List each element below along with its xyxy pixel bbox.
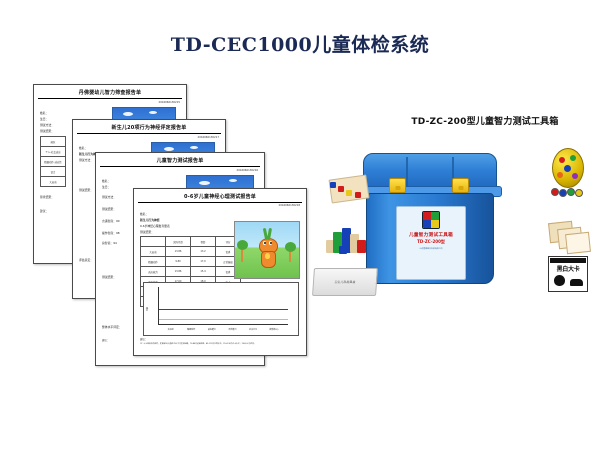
- toolbox-latch-right[interactable]: [452, 178, 469, 193]
- chart-plot-area: 大运动 精细动作 适应能力 语言能力 社交行为 发育商DQ: [158, 287, 288, 325]
- report-4-title: 0-6岁儿童神经心理测试报告单: [134, 193, 306, 200]
- table-row: 适应能力 13.86 15.4 优秀: [141, 267, 241, 277]
- table-cell: 语言: [41, 167, 66, 177]
- x-tick-label: 大运动: [168, 328, 174, 331]
- x-tick-label: 精细动作: [187, 328, 195, 331]
- report-1-title: 丹佛婴幼儿智力筛查报告单: [34, 89, 186, 96]
- y-axis-label: 月龄: [146, 307, 149, 311]
- cell: 13.86: [166, 247, 191, 257]
- divider: [77, 133, 221, 134]
- report-1-table: 能区 个人-社会适应 精细动作-适应性 语言 大运动: [40, 136, 66, 187]
- picture-card-front[interactable]: [565, 232, 591, 254]
- table-header: 智龄: [191, 237, 216, 247]
- table-row: 精细动作 9.80 17.0 正常偏高: [141, 257, 241, 267]
- row-label: 适应能力: [141, 267, 166, 277]
- wooden-block[interactable]: [357, 240, 366, 253]
- x-tick-label: 语言能力: [229, 328, 237, 331]
- cell: 13.2: [191, 247, 216, 257]
- reference-line-primary: [159, 309, 288, 310]
- manual-box[interactable]: 卫生儿科用具盒: [312, 268, 378, 296]
- report-1-number: 2016060130215: [159, 101, 180, 104]
- divider: [38, 98, 182, 99]
- reference-line-secondary: [159, 319, 288, 320]
- x-tick-label: 发育商DQ: [269, 328, 278, 331]
- divider: [138, 202, 302, 203]
- table-cell: 大运动: [41, 177, 66, 187]
- mini-ball[interactable]: [559, 189, 567, 197]
- mini-ball[interactable]: [567, 188, 575, 196]
- wooden-block[interactable]: [339, 246, 347, 254]
- page-title: TD-CEC1000儿童体检系统: [0, 30, 600, 57]
- block-tray[interactable]: [329, 174, 370, 203]
- divider: [100, 166, 260, 167]
- report-4-field-name: 姓名：: [140, 212, 306, 216]
- report-4-advice-label: 建议：: [140, 338, 300, 342]
- toolbox-latch-left[interactable]: [389, 178, 406, 193]
- bw-card-title: 黑白大卡: [549, 264, 587, 273]
- manual-box-label: 卫生儿科用具盒: [334, 280, 355, 284]
- table-row: 大运动 13.86 13.2 优秀: [141, 247, 241, 257]
- brand-logo-icon: [422, 211, 440, 229]
- mini-ball[interactable]: [551, 188, 559, 196]
- product-caption: TD-ZC-200型儿童智力测试工具箱: [385, 114, 585, 127]
- bw-card-header-bar: [550, 258, 586, 263]
- report-2-number: 2016060130217: [198, 136, 219, 139]
- row-label: 精细动作: [141, 257, 166, 267]
- bar-chart: 大运动 精细动作 适应能力 语言能力 社交行为 发育商DQ 月龄: [143, 282, 299, 336]
- x-tick-label: 社交行为: [249, 328, 257, 331]
- cell: 9.80: [166, 257, 191, 267]
- label-fine-print: 山东国康医疗科技有限公司: [420, 248, 443, 251]
- wooden-block[interactable]: [355, 192, 361, 198]
- report-2-title: 新生儿20项行为神经评定报告单: [73, 124, 225, 131]
- cat-illustration: [234, 221, 300, 279]
- report-3-title: 儿童智力测试报告单: [96, 157, 264, 164]
- cell: 17.0: [191, 257, 216, 267]
- report-3-number: 2016060130216: [237, 169, 258, 172]
- x-tick-label: 适应能力: [208, 328, 216, 331]
- tree-icon: [554, 275, 565, 286]
- wooden-block[interactable]: [346, 190, 352, 196]
- table-cell: 个人-社会适应: [41, 147, 66, 157]
- row-label: 大运动: [141, 247, 166, 257]
- wooden-block[interactable]: [338, 186, 344, 192]
- toolbox-label: 儿童智力测试工具箱 TD-ZC-200型 山东国康医疗科技有限公司: [396, 206, 466, 280]
- mini-ball[interactable]: [575, 189, 583, 197]
- table-cell: 精细动作-适应性: [41, 157, 66, 167]
- label-brand-text: 儿童智力测试工具箱: [409, 232, 453, 238]
- table-header: 实际月龄: [166, 237, 191, 247]
- color-ball-toy[interactable]: [552, 148, 584, 188]
- table-corner: [141, 237, 166, 247]
- cell: 15.4: [191, 267, 216, 277]
- bw-card-set[interactable]: 黑白大卡: [548, 256, 588, 292]
- car-icon: [570, 279, 583, 286]
- report-sheet-4[interactable]: 0-6岁儿童神经心理测试报告单 2016060130218 姓名： 新生儿行为神…: [133, 188, 307, 356]
- report-4-number: 2016060130218: [279, 204, 300, 207]
- cell: 13.86: [166, 267, 191, 277]
- report-4-footnote: 注：以上结果仅供参考，发育商DQ分值在70以下为发育迟缓，70-84为边缘状态，…: [140, 343, 300, 346]
- product-poster: TD-CEC1000儿童体检系统 丹佛婴幼儿智力筛查报告单 2016060130…: [0, 0, 600, 450]
- label-model-text: TD-ZC-200型: [417, 239, 445, 245]
- wooden-block[interactable]: [330, 182, 336, 188]
- table-cell: 能区: [41, 137, 66, 147]
